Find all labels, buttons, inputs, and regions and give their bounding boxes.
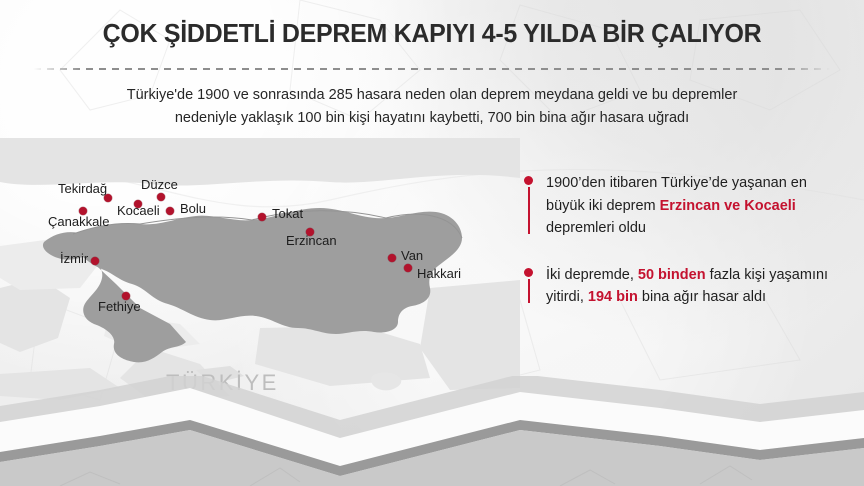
turkey-map: TÜRKİYE TekirdağÇanakkaleDüzceKocaeliBol… xyxy=(0,138,520,400)
city-label-düzce: Düzce xyxy=(141,178,178,191)
plain-text: İki depremde, xyxy=(546,267,638,283)
infographic-canvas: ÇOK ŞİDDETLİ DEPREM KAPIYI 4-5 YILDA BİR… xyxy=(0,0,864,486)
seismograph-zigzag-graphic xyxy=(0,376,864,486)
city-dot-düzce xyxy=(157,193,165,201)
city-dot-tokat xyxy=(258,213,266,221)
key-fact-1: 1900’den itibaren Türkiye’de yaşanan en … xyxy=(524,172,844,240)
city-dot-bolu xyxy=(166,207,174,215)
page-subtitle: Türkiye'de 1900 ve sonrasında 285 hasara… xyxy=(70,84,794,130)
city-label-bolu: Bolu xyxy=(180,202,206,215)
city-dot-van xyxy=(388,254,396,262)
city-label-tekirdağ: Tekirdağ xyxy=(58,182,107,195)
key-fact-text: 1900’den itibaren Türkiye’de yaşanan en … xyxy=(546,172,844,240)
header-divider xyxy=(34,68,830,70)
highlighted-term: 194 bin xyxy=(588,289,638,305)
bullet-dot-icon xyxy=(524,268,533,277)
city-label-kocaeli: Kocaeli xyxy=(117,204,160,217)
key-facts-list: 1900’den itibaren Türkiye’de yaşanan en … xyxy=(524,172,844,333)
city-dot-i̇zmir xyxy=(91,257,99,265)
subtitle-line-2: nedeniyle yaklaşık 100 bin kişi hayatını… xyxy=(175,110,689,126)
city-label-fethiye: Fethiye xyxy=(98,300,141,313)
bullet-stem-line xyxy=(528,187,530,234)
key-fact-text: İki depremde, 50 binden fazla kişi yaşam… xyxy=(546,264,844,309)
city-label-tokat: Tokat xyxy=(272,207,303,220)
bullet-stem-line xyxy=(528,279,530,303)
bullet-dot-icon xyxy=(524,176,533,185)
key-fact-2: İki depremde, 50 binden fazla kişi yaşam… xyxy=(524,264,844,309)
highlighted-term: Erzincan ve Kocaeli xyxy=(660,198,796,214)
city-label-van: Van xyxy=(401,249,423,262)
city-label-i̇zmir: İzmir xyxy=(60,252,88,265)
city-label-hakkari: Hakkari xyxy=(417,267,461,280)
plain-text: bina ağır hasar aldı xyxy=(638,289,766,305)
city-dot-hakkari xyxy=(404,264,412,272)
plain-text: depremleri oldu xyxy=(546,220,646,236)
subtitle-line-1: Türkiye'de 1900 ve sonrasında 285 hasara… xyxy=(127,87,738,103)
city-label-çanakkale: Çanakkale xyxy=(48,215,109,228)
city-label-erzincan: Erzincan xyxy=(286,234,337,247)
highlighted-term: 50 binden xyxy=(638,267,706,283)
page-title: ÇOK ŞİDDETLİ DEPREM KAPIYI 4-5 YILDA BİR… xyxy=(17,18,846,48)
